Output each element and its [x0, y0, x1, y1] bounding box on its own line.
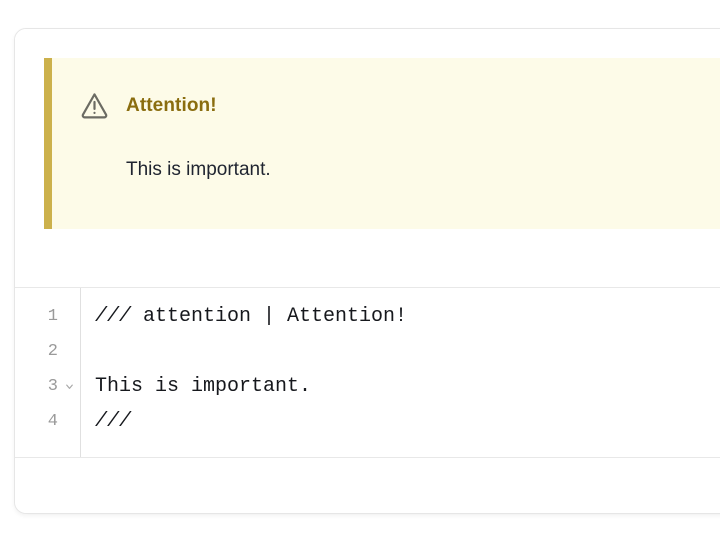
code-lines[interactable]: 1/// attention | Attention!23This is imp… — [15, 299, 720, 457]
callout-body-text: This is important. — [126, 159, 271, 181]
code-line-text: /// — [95, 404, 131, 439]
code-token-delimiter: /// — [95, 305, 131, 328]
line-number: 3 — [15, 369, 58, 404]
code-line[interactable]: 3This is important. — [15, 369, 720, 404]
line-number: 2 — [15, 334, 58, 369]
line-number: 1 — [15, 299, 58, 334]
attention-callout: Attention! This is important. — [44, 58, 720, 229]
callout-title: Attention! — [126, 95, 217, 117]
code-token-text: This is important. — [95, 375, 311, 398]
code-pane[interactable]: 1/// attention | Attention!23This is imp… — [15, 288, 720, 458]
example-card: Attention! This is important. 1/// atten… — [14, 28, 720, 514]
code-line-text: This is important. — [95, 369, 311, 404]
card-footer — [15, 458, 720, 513]
code-line[interactable]: 4/// — [15, 404, 720, 439]
code-line[interactable]: 2 — [15, 334, 720, 369]
code-token-text: attention | Attention! — [131, 305, 407, 328]
chevron-down-icon[interactable] — [62, 369, 76, 404]
warning-triangle-icon — [79, 90, 110, 121]
line-number: 4 — [15, 404, 58, 439]
code-token-delimiter: /// — [95, 410, 131, 433]
code-line-text: /// attention | Attention! — [95, 299, 407, 334]
code-line[interactable]: 1/// attention | Attention! — [15, 299, 720, 334]
callout-title-row: Attention! — [79, 90, 217, 121]
page-canvas: Attention! This is important. 1/// atten… — [0, 0, 720, 544]
preview-pane: Attention! This is important. — [15, 29, 720, 288]
